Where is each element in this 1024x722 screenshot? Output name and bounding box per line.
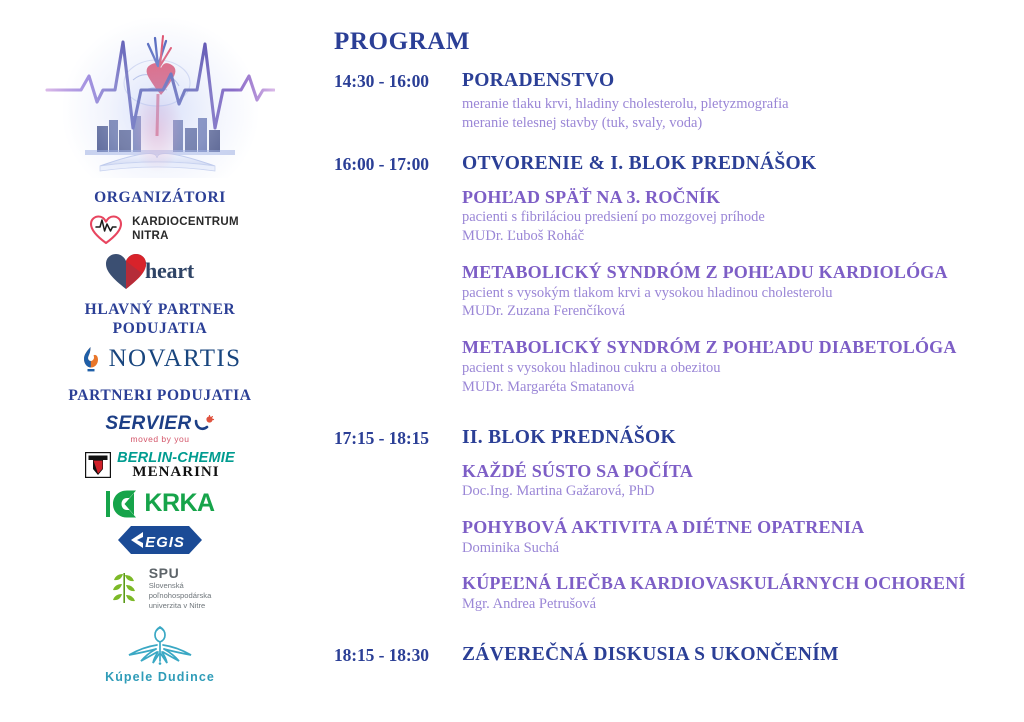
slot-body: ZÁVEREČNÁ DISKUSIA S UKONČENÍM — [462, 644, 1024, 666]
talk-list: POHĽAD SPÄŤ NA 3. ROČNÍK pacienti s fibr… — [462, 187, 1024, 397]
talk-desc: pacient s vysokým tlakom krvi a vysokou … — [462, 284, 1024, 303]
talk-speaker: Doc.Ing. Martina Gažarová, PhD — [462, 482, 1024, 501]
program-section: PROGRAM 14:30 - 16:00 PORADENSTVO merani… — [320, 0, 1024, 722]
organizers-heading: ORGANIZÁTORI — [0, 189, 320, 207]
slot-time: 18:15 - 18:30 — [334, 644, 462, 666]
servier-tagline: moved by you — [131, 434, 190, 444]
dudince-label: Kúpele Dudince — [105, 670, 215, 684]
heart-ecg-outline-icon — [89, 215, 123, 245]
logo-servier: SERVIER moved by you — [0, 413, 320, 444]
krka-k-icon — [105, 489, 139, 519]
slot-line: meranie telesnej stavby (tuk, svaly, vod… — [462, 114, 1024, 133]
sidebar: ORGANIZÁTORI KARDIOCENTRUM NITRA heart H… — [0, 0, 320, 722]
slot-time: 17:15 - 18:15 — [334, 427, 462, 449]
program-slot: 18:15 - 18:30 ZÁVEREČNÁ DISKUSIA S UKONČ… — [328, 644, 1024, 666]
talk-item: METABOLICKÝ SYNDRÓM Z POHĽADU KARDIOLÓGA… — [462, 262, 1024, 321]
slot-time: 14:30 - 16:00 — [334, 70, 462, 92]
talk-title: KAŽDÉ SÚSTO SA POČÍTA — [462, 461, 1024, 483]
servier-swoosh-icon — [193, 415, 215, 435]
logo-egis: EGIS — [0, 525, 320, 555]
talk-speaker: Dominika Suchá — [462, 539, 1024, 558]
slot-time: 16:00 - 17:00 — [334, 153, 462, 175]
logo-kardiocentrum-nitra: KARDIOCENTRUM NITRA — [0, 215, 320, 245]
hero-glow — [63, 18, 258, 178]
talk-speaker: MUDr. Margaréta Smatanová — [462, 378, 1024, 397]
spacer — [328, 133, 1024, 153]
talk-item: METABOLICKÝ SYNDRÓM Z POHĽADU DIABETOLÓG… — [462, 337, 1024, 396]
svg-text:EGIS: EGIS — [145, 534, 185, 551]
page-title: PROGRAM — [334, 28, 1024, 56]
talk-title: POHĽAD SPÄŤ NA 3. ROČNÍK — [462, 187, 1024, 209]
novartis-label: NOVARTIS — [109, 345, 242, 373]
hero-logo — [45, 8, 275, 183]
slot-body: II. BLOK PREDNÁŠOK KAŽDÉ SÚSTO SA POČÍTA… — [462, 427, 1024, 630]
talk-speaker: MUDr. Ľuboš Roháč — [462, 227, 1024, 246]
slot-body: PORADENSTVO meranie tlaku krvi, hladiny … — [462, 70, 1024, 133]
spu-wheat-icon — [109, 570, 141, 606]
logo-krka: KRKA — [0, 489, 320, 519]
spu-sub1: Slovenská — [149, 581, 212, 591]
talk-item: POHĽAD SPÄŤ NA 3. ROČNÍK pacienti s fibr… — [462, 187, 1024, 246]
dudince-fountain-icon — [121, 621, 199, 669]
spacer — [328, 413, 1024, 427]
kardiocentrum-label: KARDIOCENTRUM NITRA — [132, 216, 239, 243]
poster-page: ORGANIZÁTORI KARDIOCENTRUM NITRA heart H… — [0, 0, 1024, 722]
servier-label: SERVIER — [105, 413, 191, 435]
talk-list: KAŽDÉ SÚSTO SA POČÍTA Doc.Ing. Martina G… — [462, 461, 1024, 614]
slot-body: OTVORENIE & I. BLOK PREDNÁŠOK POHĽAD SPÄ… — [462, 153, 1024, 413]
talk-item: KÚPEĽNÁ LIEČBA KARDIOVASKULÁRNYCH OCHORE… — [462, 573, 1024, 613]
logo-berlin-chemie-menarini: BERLIN-CHEMIE MENARINI — [0, 450, 320, 481]
logo-kupele-dudince: Kúpele Dudince — [0, 621, 320, 684]
talk-desc: pacient s vysokou hladinou cukru a obezi… — [462, 359, 1024, 378]
main-partner-heading: HLAVNÝ PARTNER PODUJATIA — [0, 301, 320, 339]
spacer — [328, 630, 1024, 644]
partners-heading: PARTNERI PODUJATIA — [0, 387, 320, 405]
spu-label: SPU — [149, 565, 212, 581]
slot-heading: II. BLOK PREDNÁŠOK — [462, 427, 1024, 449]
talk-title: METABOLICKÝ SYNDRÓM Z POHĽADU KARDIOLÓGA — [462, 262, 1024, 284]
talk-title: POHYBOVÁ AKTIVITA A DIÉTNE OPATRENIA — [462, 517, 1024, 539]
spu-sub3: univerzita v Nitre — [149, 601, 212, 611]
menarini-m-icon — [85, 452, 111, 478]
slot-lines: meranie tlaku krvi, hladiny cholesterolu… — [462, 95, 1024, 133]
menarini-label: MENARINI — [132, 464, 219, 481]
program-slot: 17:15 - 18:15 II. BLOK PREDNÁŠOK KAŽDÉ S… — [328, 427, 1024, 630]
program-slot: 14:30 - 16:00 PORADENSTVO meranie tlaku … — [328, 70, 1024, 133]
krka-label: KRKA — [144, 489, 214, 518]
slot-line: meranie tlaku krvi, hladiny cholesterolu… — [462, 95, 1024, 114]
novartis-flame-icon — [79, 345, 103, 373]
slot-heading: ZÁVEREČNÁ DISKUSIA S UKONČENÍM — [462, 644, 1024, 666]
talk-speaker: Mgr. Andrea Petrušová — [462, 595, 1024, 614]
talk-title: METABOLICKÝ SYNDRÓM Z POHĽADU DIABETOLÓG… — [462, 337, 1024, 359]
talk-title: KÚPEĽNÁ LIEČBA KARDIOVASKULÁRNYCH OCHORE… — [462, 573, 1024, 595]
talk-desc: pacienti s fibriláciou predsiení po mozg… — [462, 208, 1024, 227]
egis-hexagon-icon: EGIS — [117, 525, 203, 555]
logo-heart: heart — [0, 251, 320, 291]
slot-heading: PORADENSTVO — [462, 70, 1024, 92]
slot-heading: OTVORENIE & I. BLOK PREDNÁŠOK — [462, 153, 1024, 175]
split-heart-icon — [104, 251, 148, 291]
talk-item: KAŽDÉ SÚSTO SA POČÍTA Doc.Ing. Martina G… — [462, 461, 1024, 501]
logo-spu: SPU Slovenská poľnohospodárska univerzit… — [0, 565, 320, 611]
talk-speaker: MUDr. Zuzana Ferenčíková — [462, 302, 1024, 321]
heart-label: heart — [145, 258, 194, 284]
talk-item: POHYBOVÁ AKTIVITA A DIÉTNE OPATRENIA Dom… — [462, 517, 1024, 557]
logo-novartis: NOVARTIS — [0, 345, 320, 373]
spu-sub2: poľnohospodárska — [149, 591, 212, 601]
program-slot: 16:00 - 17:00 OTVORENIE & I. BLOK PREDNÁ… — [328, 153, 1024, 413]
